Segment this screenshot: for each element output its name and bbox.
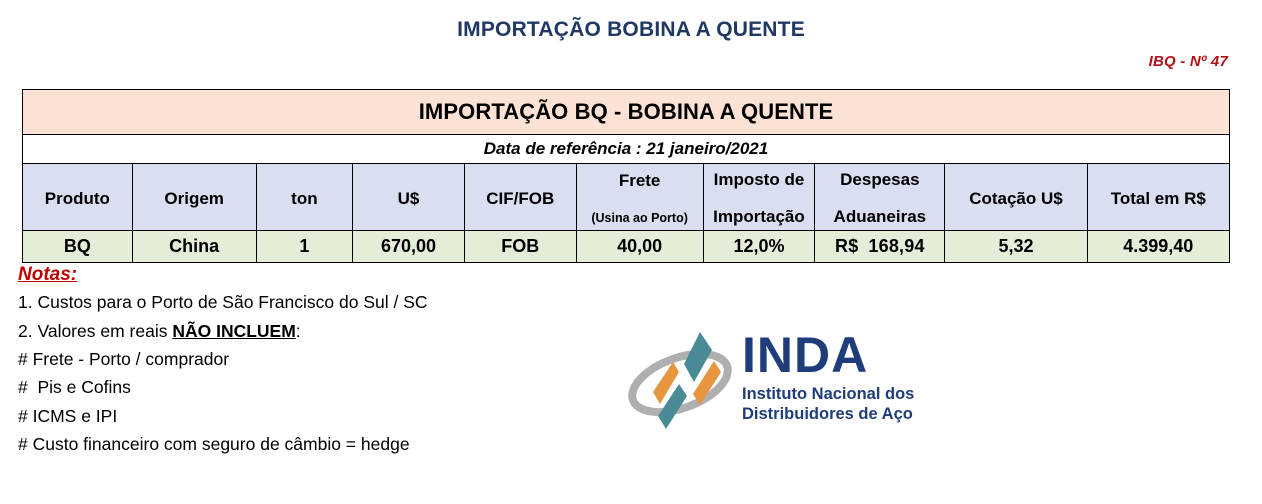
inda-logo: INDA Instituto Nacional dos Distribuidor…: [624, 328, 944, 438]
table-title-band: IMPORTAÇÃO BQ - BOBINA A QUENTE: [23, 90, 1230, 135]
column-header-cif-fob: CIF/FOB: [464, 164, 576, 231]
column-header-cotacao: Cotação U$: [945, 164, 1087, 231]
column-header-imposto-sublabel: Importação: [704, 189, 815, 226]
import-table-container: IMPORTAÇÃO BQ - BOBINA A QUENTE Data de …: [22, 89, 1230, 263]
column-header-origem: Origem: [132, 164, 256, 231]
page-title: IMPORTAÇÃO BOBINA A QUENTE: [0, 0, 1262, 41]
column-header-ton: ton: [256, 164, 353, 231]
column-header-produto: Produto: [23, 164, 133, 231]
note-item-2-emphasis: NÃO INCLUEM: [172, 321, 295, 341]
cell-total-brl: 4.399,40: [1087, 231, 1229, 263]
cell-cotacao-usd: 5,32: [945, 231, 1087, 263]
table-row: BQ China 1 670,00 FOB 40,00 12,0% R$168,…: [23, 231, 1230, 263]
note-item-3: # Frete - Porto / comprador: [18, 345, 618, 373]
note-item-1: 1. Custos para o Porto de São Francisco …: [18, 288, 618, 316]
column-header-frete: Frete (Usina ao Porto): [576, 164, 703, 231]
note-item-6: # Custo financeiro com seguro de câmbio …: [18, 430, 618, 458]
table-title-row: IMPORTAÇÃO BQ - BOBINA A QUENTE: [23, 90, 1230, 135]
column-header-total: Total em R$: [1087, 164, 1229, 231]
note-item-2: 2. Valores em reais NÃO INCLUEM:: [18, 317, 618, 345]
column-header-imposto: Imposto de Importação: [703, 164, 815, 231]
cell-origem: China: [132, 231, 256, 263]
cell-cif-fob: FOB: [464, 231, 576, 263]
issue-number-row: IBQ - Nº 47: [0, 41, 1262, 71]
column-header-frete-label: Frete: [577, 169, 703, 190]
issue-number: IBQ - Nº 47: [1149, 53, 1228, 70]
inda-tagline-line1: Instituto Nacional dos: [742, 384, 914, 404]
column-header-despesas-sublabel: Aduaneiras: [815, 189, 944, 226]
column-header-usd: U$: [353, 164, 465, 231]
notes-section: Notas: 1. Custos para o Porto de São Fra…: [18, 262, 618, 458]
notes-heading: Notas:: [18, 262, 77, 288]
column-header-cif-fob-label: CIF/FOB: [465, 187, 576, 208]
reference-date: Data de referência : 21 janeiro/2021: [23, 135, 1230, 164]
cell-imposto-importacao: 12,0%: [703, 231, 815, 263]
cell-produto: BQ: [23, 231, 133, 263]
import-table: IMPORTAÇÃO BQ - BOBINA A QUENTE Data de …: [22, 89, 1230, 263]
cell-ton: 1: [256, 231, 353, 263]
column-header-ton-label: ton: [257, 187, 353, 208]
inda-tagline-line2: Distribuidores de Aço: [742, 404, 914, 424]
table-date-row: Data de referência : 21 janeiro/2021: [23, 135, 1230, 164]
column-header-despesas: Despesas Aduaneiras: [815, 164, 945, 231]
cell-usd: 670,00: [353, 231, 465, 263]
column-header-usd-label: U$: [353, 187, 464, 208]
note-item-4: # Pis e Cofins: [18, 373, 618, 401]
note-item-2-suffix: :: [296, 321, 301, 341]
note-item-2-prefix: 2. Valores em reais: [18, 321, 172, 341]
notes-heading-wrap: Notas:: [18, 262, 618, 288]
column-header-imposto-label: Imposto de: [704, 168, 815, 189]
column-header-despesas-label: Despesas: [815, 168, 944, 189]
note-item-5: # ICMS e IPI: [18, 402, 618, 430]
inda-tagline: Instituto Nacional dos Distribuidores de…: [742, 384, 914, 424]
orbit-ring-icon: [624, 342, 735, 423]
column-header-produto-label: Produto: [23, 187, 132, 208]
column-header-cotacao-label: Cotação U$: [945, 187, 1086, 208]
inda-logo-mark-icon: [624, 328, 736, 434]
column-header-origem-label: Origem: [133, 187, 256, 208]
cell-despesas-aduaneiras: R$168,94: [815, 231, 945, 263]
column-header-frete-sublabel: (Usina ao Porto): [577, 190, 703, 225]
inda-wordmark: INDA: [742, 330, 914, 380]
cell-despesas-value: 168,94: [868, 236, 924, 256]
cell-frete: 40,00: [576, 231, 703, 263]
column-header-total-label: Total em R$: [1088, 187, 1229, 208]
table-header-row: Produto Origem ton U$ CIF/FOB Frete (Usi…: [23, 164, 1230, 231]
inda-logo-text: INDA Instituto Nacional dos Distribuidor…: [742, 330, 914, 424]
cell-despesas-currency: R$: [835, 236, 858, 256]
